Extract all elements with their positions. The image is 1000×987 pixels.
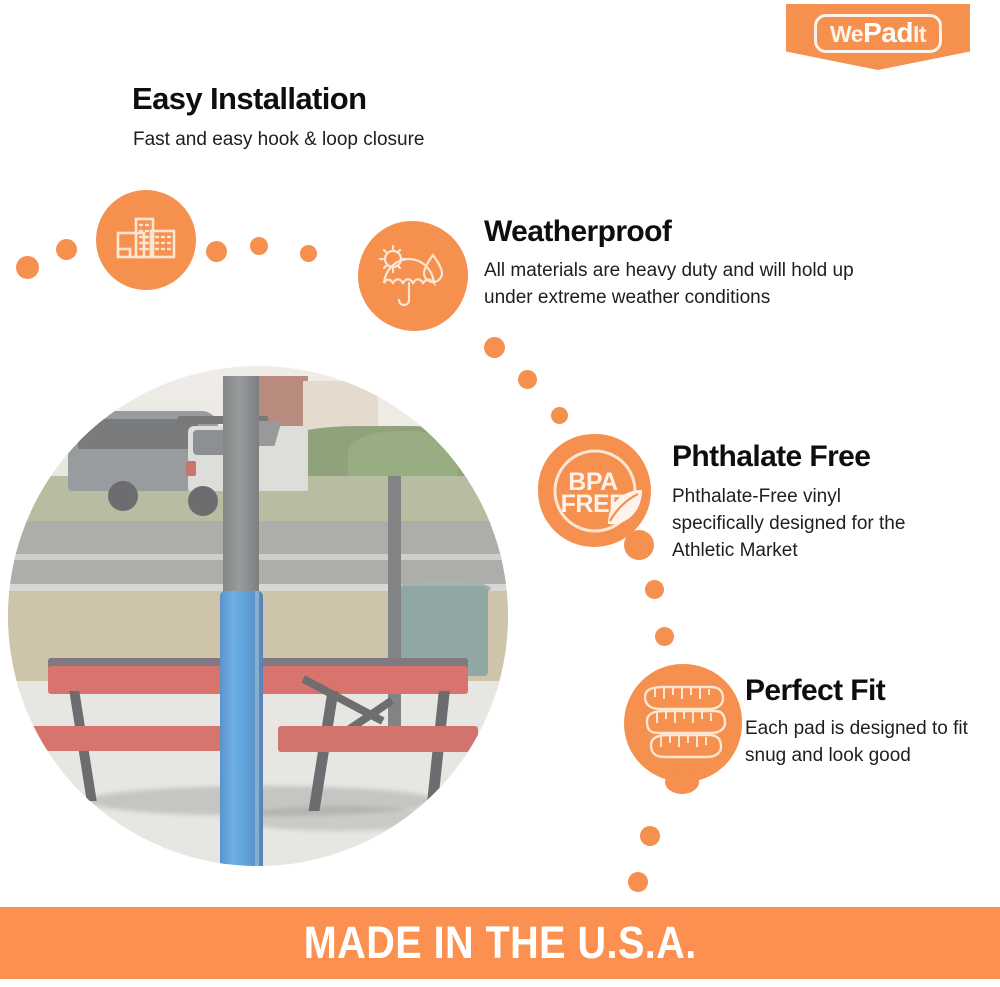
feature-title-phthalate-free: Phthalate Free bbox=[672, 440, 870, 474]
decorative-dot-perfect-fit bbox=[665, 770, 699, 794]
made-in-usa-text: MADE IN THE U.S.A. bbox=[304, 917, 697, 969]
tape-measure-icon bbox=[624, 664, 742, 782]
decorative-dot bbox=[628, 872, 648, 892]
sun-umbrella-raindrop-icon bbox=[358, 221, 468, 331]
feature-title-weatherproof: Weatherproof bbox=[484, 215, 671, 249]
feature-description-phthalate-free: Phthalate-Free vinyl specifically design… bbox=[672, 484, 934, 565]
decorative-dot bbox=[551, 407, 568, 424]
decorative-dot bbox=[250, 237, 268, 255]
decorative-dot bbox=[56, 239, 77, 260]
infographic-canvas: We Pad It Easy Installation Fast and eas… bbox=[0, 0, 1000, 987]
decorative-dot bbox=[206, 241, 227, 262]
feature-title-perfect-fit: Perfect Fit bbox=[745, 674, 885, 708]
feature-title-easy-installation: Easy Installation bbox=[132, 81, 366, 117]
decorative-dot bbox=[628, 538, 648, 558]
decorative-dot bbox=[300, 245, 317, 262]
feature-description-perfect-fit: Each pad is designed to fit snug and loo… bbox=[745, 716, 975, 770]
decorative-dot bbox=[16, 256, 39, 279]
photo-overlay bbox=[8, 366, 508, 866]
made-in-usa-banner: MADE IN THE U.S.A. bbox=[0, 907, 1000, 979]
brand-logo-it: It bbox=[913, 23, 926, 46]
decorative-dot bbox=[655, 627, 674, 646]
feature-description-weatherproof: All materials are heavy duty and will ho… bbox=[484, 258, 904, 312]
decorative-dot bbox=[518, 370, 537, 389]
brand-logo-pad: Pad bbox=[863, 19, 913, 47]
brand-logo-badge: We Pad It bbox=[786, 4, 970, 70]
building-icon bbox=[96, 190, 196, 290]
decorative-dot bbox=[640, 826, 660, 846]
product-photo bbox=[8, 366, 508, 866]
brand-logo-we: We bbox=[830, 23, 863, 46]
feature-description-easy-installation: Fast and easy hook & loop closure bbox=[133, 127, 553, 154]
brand-logo-frame: We Pad It bbox=[814, 14, 942, 53]
decorative-dot bbox=[645, 580, 664, 599]
decorative-dot bbox=[484, 337, 505, 358]
